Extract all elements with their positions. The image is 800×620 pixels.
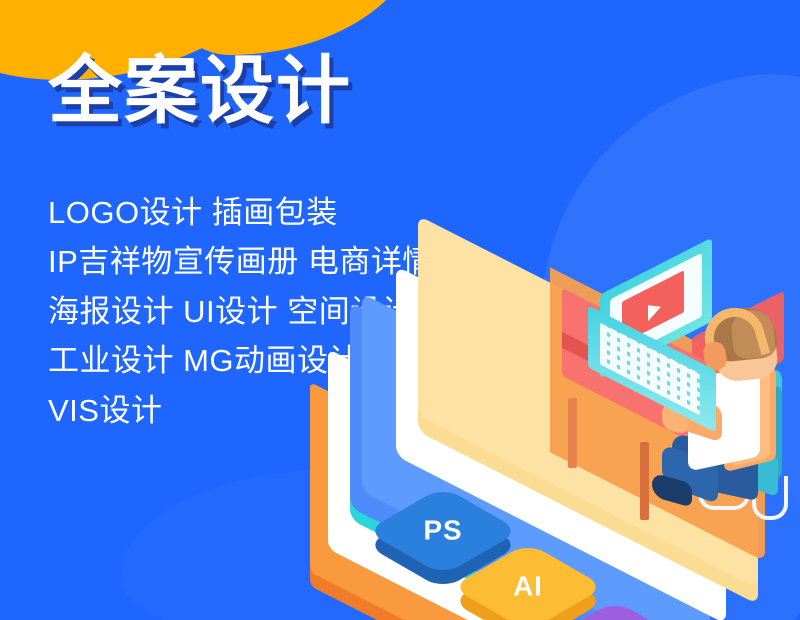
ps-tile-label: PS — [423, 515, 462, 547]
service-line-1: LOGO设计 插画包装 — [48, 196, 434, 229]
desk-leg-left — [568, 398, 577, 468]
page-title: 全案设计 — [48, 54, 352, 128]
desk-leg-front — [640, 442, 649, 520]
promo-banner: 全案设计 LOGO设计 插画包装 IP吉祥物宣传画册 电商详情 海报设计 UI设… — [0, 0, 800, 620]
ai-tile-label: AI — [513, 571, 543, 603]
isometric-illustration: PS AI A — [300, 230, 800, 620]
